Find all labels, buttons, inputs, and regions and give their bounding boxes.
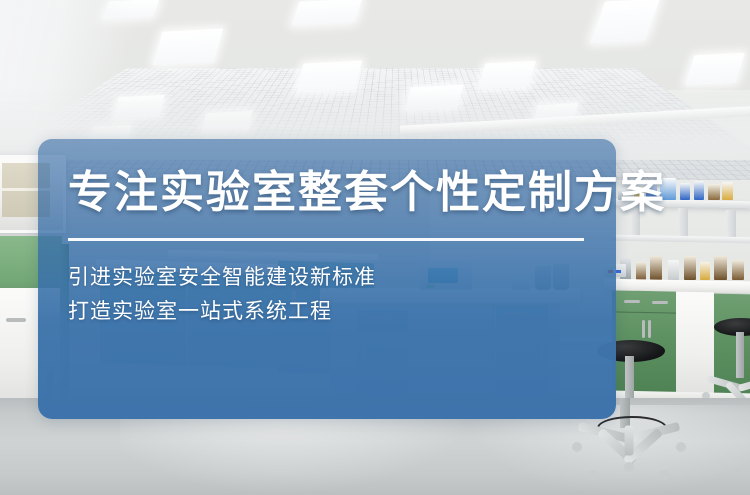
ceiling-light-panel (404, 85, 463, 112)
subtitle-block: 引进实验室安全智能建设新标准 打造实验室一站式系统工程 (68, 261, 376, 329)
lab-stool-post (736, 332, 744, 378)
reagent-bottle (684, 256, 696, 280)
promo-overlay-panel: 专注实验室整套个性定制方案 引进实验室安全智能建设新标准 打造实验室一站式系统工… (38, 139, 616, 419)
cabinet-handle (624, 300, 640, 303)
foreground-chair-caster (588, 470, 598, 480)
subtitle-line-1: 引进实验室安全智能建设新标准 (68, 261, 376, 295)
foreground-chair-caster (624, 462, 634, 472)
reagent-bottle (708, 184, 720, 200)
reagent-bottle (680, 183, 690, 200)
foreground-chair-caster (660, 470, 670, 480)
title-divider (68, 238, 584, 241)
control-panel-light (616, 270, 621, 273)
foreground-chair-leg (625, 426, 634, 456)
ceiling-light-panel (292, 0, 363, 26)
foreground-chair-caster (676, 442, 686, 452)
reagent-bottle (732, 260, 744, 280)
reagent-bottle (636, 262, 646, 280)
reagent-bottle (700, 262, 710, 280)
ceiling-light-panel (202, 111, 253, 133)
ceiling-light-panel (153, 28, 224, 65)
cabinet-handle (6, 318, 26, 322)
page-title: 专注实验室整套个性定制方案 (68, 171, 666, 215)
reagent-bottle (650, 256, 662, 280)
ceiling-light-panel (478, 61, 536, 90)
cabinet-handle (642, 320, 645, 338)
reagent-bottle (668, 260, 679, 280)
cabinet-handle (648, 320, 651, 338)
subtitle-line-2: 打造实验室一站式系统工程 (68, 295, 376, 329)
reagent-bottle (694, 181, 704, 200)
reagent-bottle (714, 256, 727, 280)
ceiling-light-panel (685, 53, 745, 86)
foreground-chair-caster (572, 442, 582, 452)
ceiling-highlight (0, 0, 150, 150)
ceiling-light-panel (296, 60, 362, 93)
banner-image: 专注实验室整套个性定制方案 引进实验室安全智能建设新标准 打造实验室一站式系统工… (0, 0, 750, 495)
cabinet-handle (652, 301, 668, 304)
reagent-bottle (722, 182, 733, 200)
